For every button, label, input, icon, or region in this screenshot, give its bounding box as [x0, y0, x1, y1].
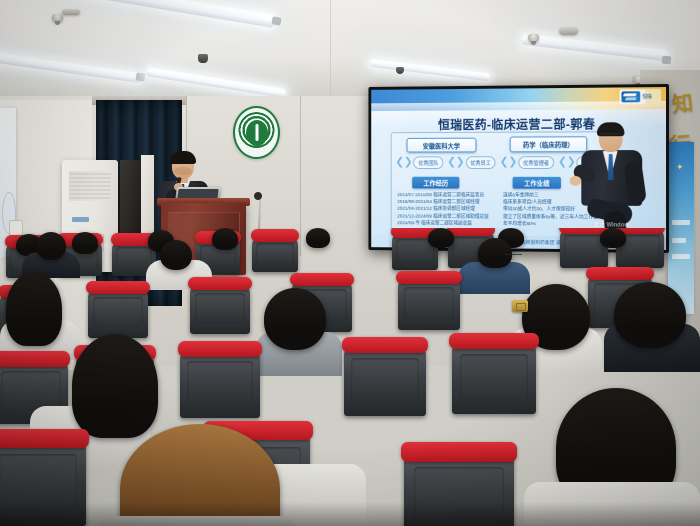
audience-head-long-hair: [6, 272, 62, 346]
portrait-hand: [570, 176, 582, 186]
audience-head: [72, 232, 98, 254]
work-history-row: 2024/09-今 临床运营二部区域副总监: [397, 220, 489, 228]
slide-canvas: 恒瑞 恒瑞医药-临床运营二部-郭春 安徽医科大学 药学（临床药理） ❮❯ 优秀团…: [371, 87, 666, 250]
banner-star-icon: ✦: [676, 162, 684, 173]
auditorium-seat[interactable]: [180, 352, 260, 418]
sprinkler-icon: [528, 34, 539, 43]
school-pill: 安徽医科大学: [407, 138, 477, 153]
work-history-list: 2013/07-2016/09 临床运营二部临床监查员 2016/09-2021…: [397, 192, 489, 228]
audience-head: [600, 228, 626, 248]
work-history-row: 2021/04-2021/12 临床协调部区域经理: [397, 206, 489, 213]
auditorium-seat[interactable]: [452, 344, 536, 414]
calligraphy-char-1: 知: [670, 87, 694, 119]
lecture-hall-photo: 知 行 并 进 ✦ 恒瑞 恒瑞医药-临床运营二部-郭春 安徽医科大学 药学（临床…: [0, 0, 700, 526]
laurel-icon: ❮❯: [395, 157, 412, 168]
logo-text: 恒瑞: [642, 93, 651, 100]
award-badge: ❮❯ 优秀员工: [447, 156, 495, 169]
auditorium-seat[interactable]: [190, 286, 250, 334]
auditorium-seat[interactable]: [252, 238, 298, 272]
award-badge: ❮❯ 优秀团队: [395, 156, 443, 169]
award-badge-label: 优秀团队: [414, 156, 444, 169]
sprinkler-icon: [52, 14, 63, 23]
audience-head: [306, 228, 330, 248]
foreground-shadow: [0, 502, 700, 526]
smoke-detector-icon: [559, 27, 578, 35]
logo-mark-icon: [621, 91, 640, 102]
work-history-header: 工作经历: [412, 177, 459, 189]
portrait-glasses-icon: [601, 133, 621, 139]
hair-clip: [512, 300, 528, 312]
audience-head: [36, 232, 66, 260]
auditorium-seat[interactable]: [344, 348, 426, 416]
auditorium-seat[interactable]: [398, 280, 460, 330]
laurel-icon: ❮❯: [447, 157, 464, 168]
audience-head: [428, 228, 454, 248]
ac-grill: [69, 171, 111, 201]
achievements-header: 工作业绩: [513, 177, 561, 189]
security-camera-icon: [198, 54, 208, 63]
university-emblem: [233, 106, 280, 159]
award-badge: ❮❯ 优秀管理者: [500, 156, 554, 169]
company-logo: 恒瑞: [620, 89, 662, 104]
microphone-head-icon: [254, 192, 262, 200]
award-badge-label: 优秀员工: [466, 156, 496, 169]
award-badge-label: 优秀管理者: [518, 156, 554, 169]
eyeglasses-icon: [505, 254, 522, 260]
speaker-face-shadow: [174, 167, 192, 175]
auditorium-seat[interactable]: [88, 290, 148, 338]
audience-head: [478, 238, 512, 268]
audience-head: [160, 240, 192, 270]
ac-badge: [72, 217, 89, 222]
audience-head: [264, 288, 326, 350]
emblem-inner-mark: [246, 120, 268, 146]
audience-area: [0, 228, 700, 526]
speaker-hair: [170, 151, 196, 164]
audience-head: [212, 228, 238, 250]
laurel-icon: ❮❯: [500, 157, 518, 168]
smoke-detector-icon: [62, 9, 80, 15]
audience-head: [614, 282, 686, 348]
audience-head-long-hair: [72, 334, 158, 438]
